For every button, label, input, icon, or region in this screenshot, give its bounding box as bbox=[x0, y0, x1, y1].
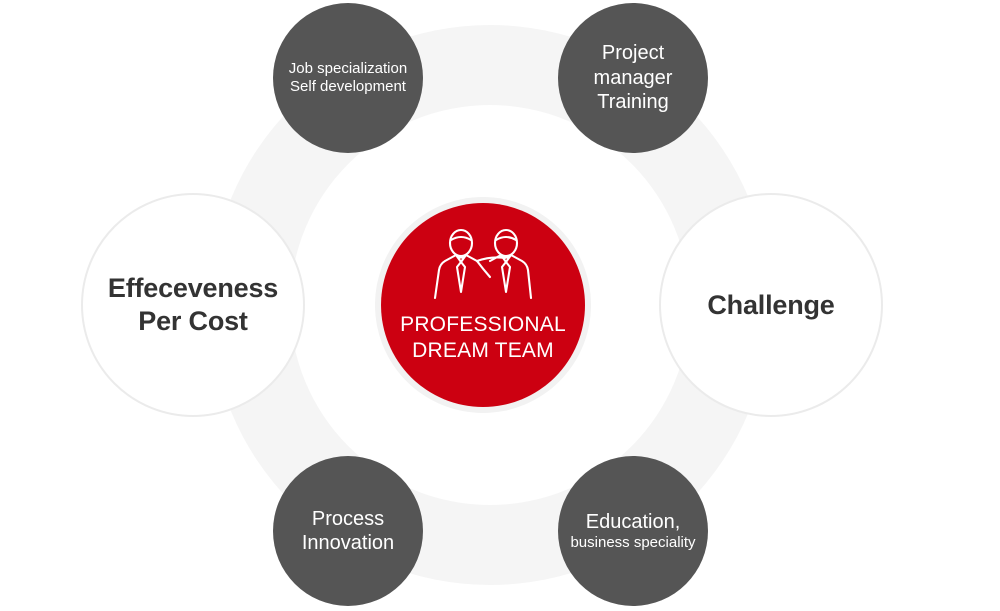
node-label-line2: Self development bbox=[290, 78, 406, 96]
node-challenge[interactable]: Challenge bbox=[659, 193, 883, 417]
node-label-line2: business speciality bbox=[570, 534, 695, 552]
node-label-line1: Project bbox=[602, 41, 664, 65]
two-business-people-icon bbox=[427, 228, 539, 308]
node-label-line3: Training bbox=[597, 90, 669, 114]
node-label-line2: Per Cost bbox=[138, 305, 247, 338]
node-label-line1: Challenge bbox=[707, 289, 834, 322]
node-job-specialization[interactable]: Job specialization Self development bbox=[273, 3, 423, 153]
hub-label: PROFESSIONAL DREAM TEAM bbox=[400, 312, 566, 365]
node-label-line2: manager bbox=[594, 66, 673, 90]
node-label-line1: Process bbox=[312, 507, 384, 531]
node-process-innovation[interactable]: Process Innovation bbox=[273, 456, 423, 606]
hub-label-line2: DREAM TEAM bbox=[400, 338, 566, 364]
node-label-line1: Education, bbox=[586, 510, 681, 534]
node-label-line1: Effeceveness bbox=[108, 272, 278, 305]
node-label-line2: Innovation bbox=[302, 531, 394, 555]
node-label-line1: Job specialization bbox=[289, 60, 407, 78]
node-project-manager-training[interactable]: Project manager Training bbox=[558, 3, 708, 153]
diagram-canvas: Job specialization Self development Proj… bbox=[0, 0, 1000, 611]
node-effeceveness-per-cost[interactable]: Effeceveness Per Cost bbox=[81, 193, 305, 417]
hub-label-line1: PROFESSIONAL bbox=[400, 312, 566, 338]
hub-professional-dream-team[interactable]: PROFESSIONAL DREAM TEAM bbox=[381, 203, 585, 407]
node-education-business-speciality[interactable]: Education, business speciality bbox=[558, 456, 708, 606]
